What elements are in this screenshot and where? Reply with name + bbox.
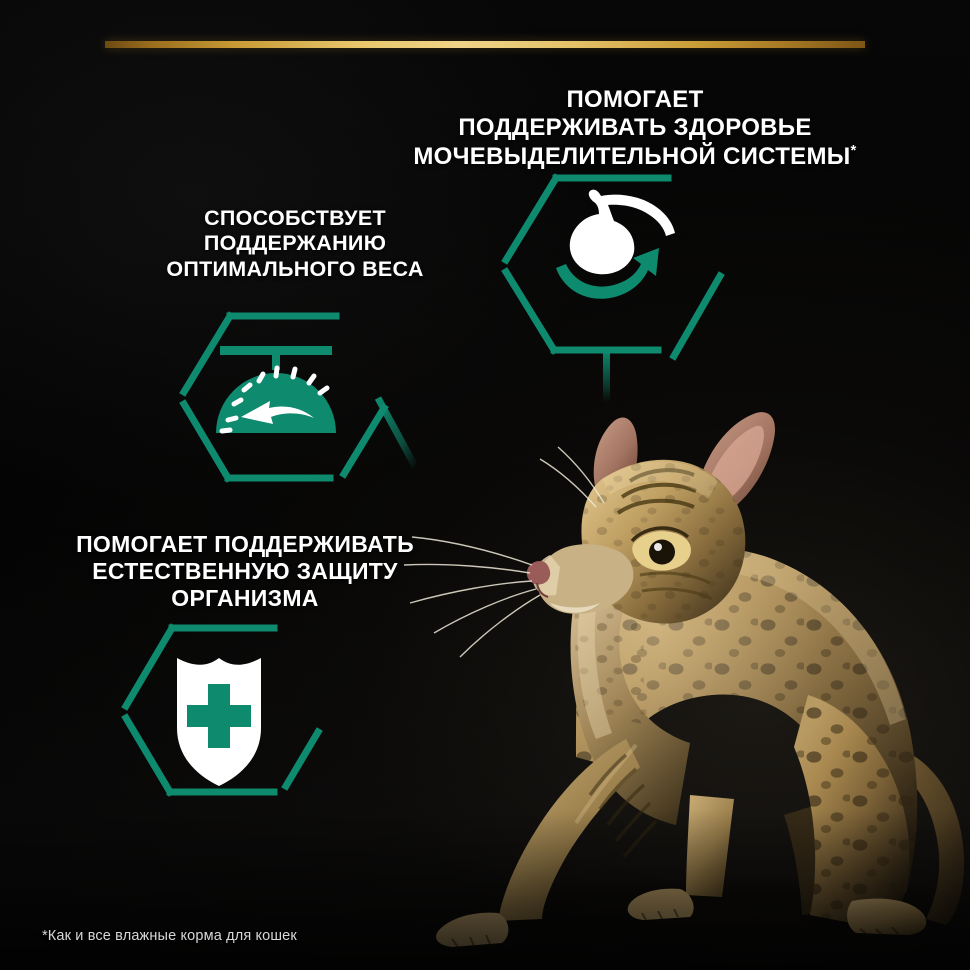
benefit-badge-defense[interactable] <box>118 610 408 840</box>
gold-divider <box>105 41 865 48</box>
bladder-icon <box>556 190 675 299</box>
footnote-text: *Как и все влажные корма для кошек <box>42 928 297 944</box>
weight-scale-icon <box>216 346 336 433</box>
benefit-headline-weight: СПОСОБСТВУЕТ ПОДДЕРЖАНИЮ ОПТИМАЛЬНОГО ВЕ… <box>130 206 460 282</box>
connector-line-weight <box>378 398 416 468</box>
benefit-badge-urinary[interactable] <box>498 160 728 395</box>
benefit-headline-urinary: ПОМОГАЕТ ПОДДЕРЖИВАТЬ ЗДОРОВЬЕ МОЧЕВЫДЕЛ… <box>400 86 870 171</box>
shield-cross-icon <box>177 658 261 786</box>
infographic-canvas: ПОМОГАЕТ ПОДДЕРЖИВАТЬ ЗДОРОВЬЕ МОЧЕВЫДЕЛ… <box>0 0 970 970</box>
benefit-headline-urinary-text: ПОМОГАЕТ ПОДДЕРЖИВАТЬ ЗДОРОВЬЕ МОЧЕВЫДЕЛ… <box>413 86 850 170</box>
benefit-badge-weight[interactable] <box>178 300 428 530</box>
benefit-headline-defense: ПОМОГАЕТ ПОДДЕРЖИВАТЬ ЕСТЕСТВЕННУЮ ЗАЩИТ… <box>35 531 455 612</box>
connector-stub-urinary <box>603 350 610 402</box>
footnote-marker-urinary: * <box>851 143 857 159</box>
